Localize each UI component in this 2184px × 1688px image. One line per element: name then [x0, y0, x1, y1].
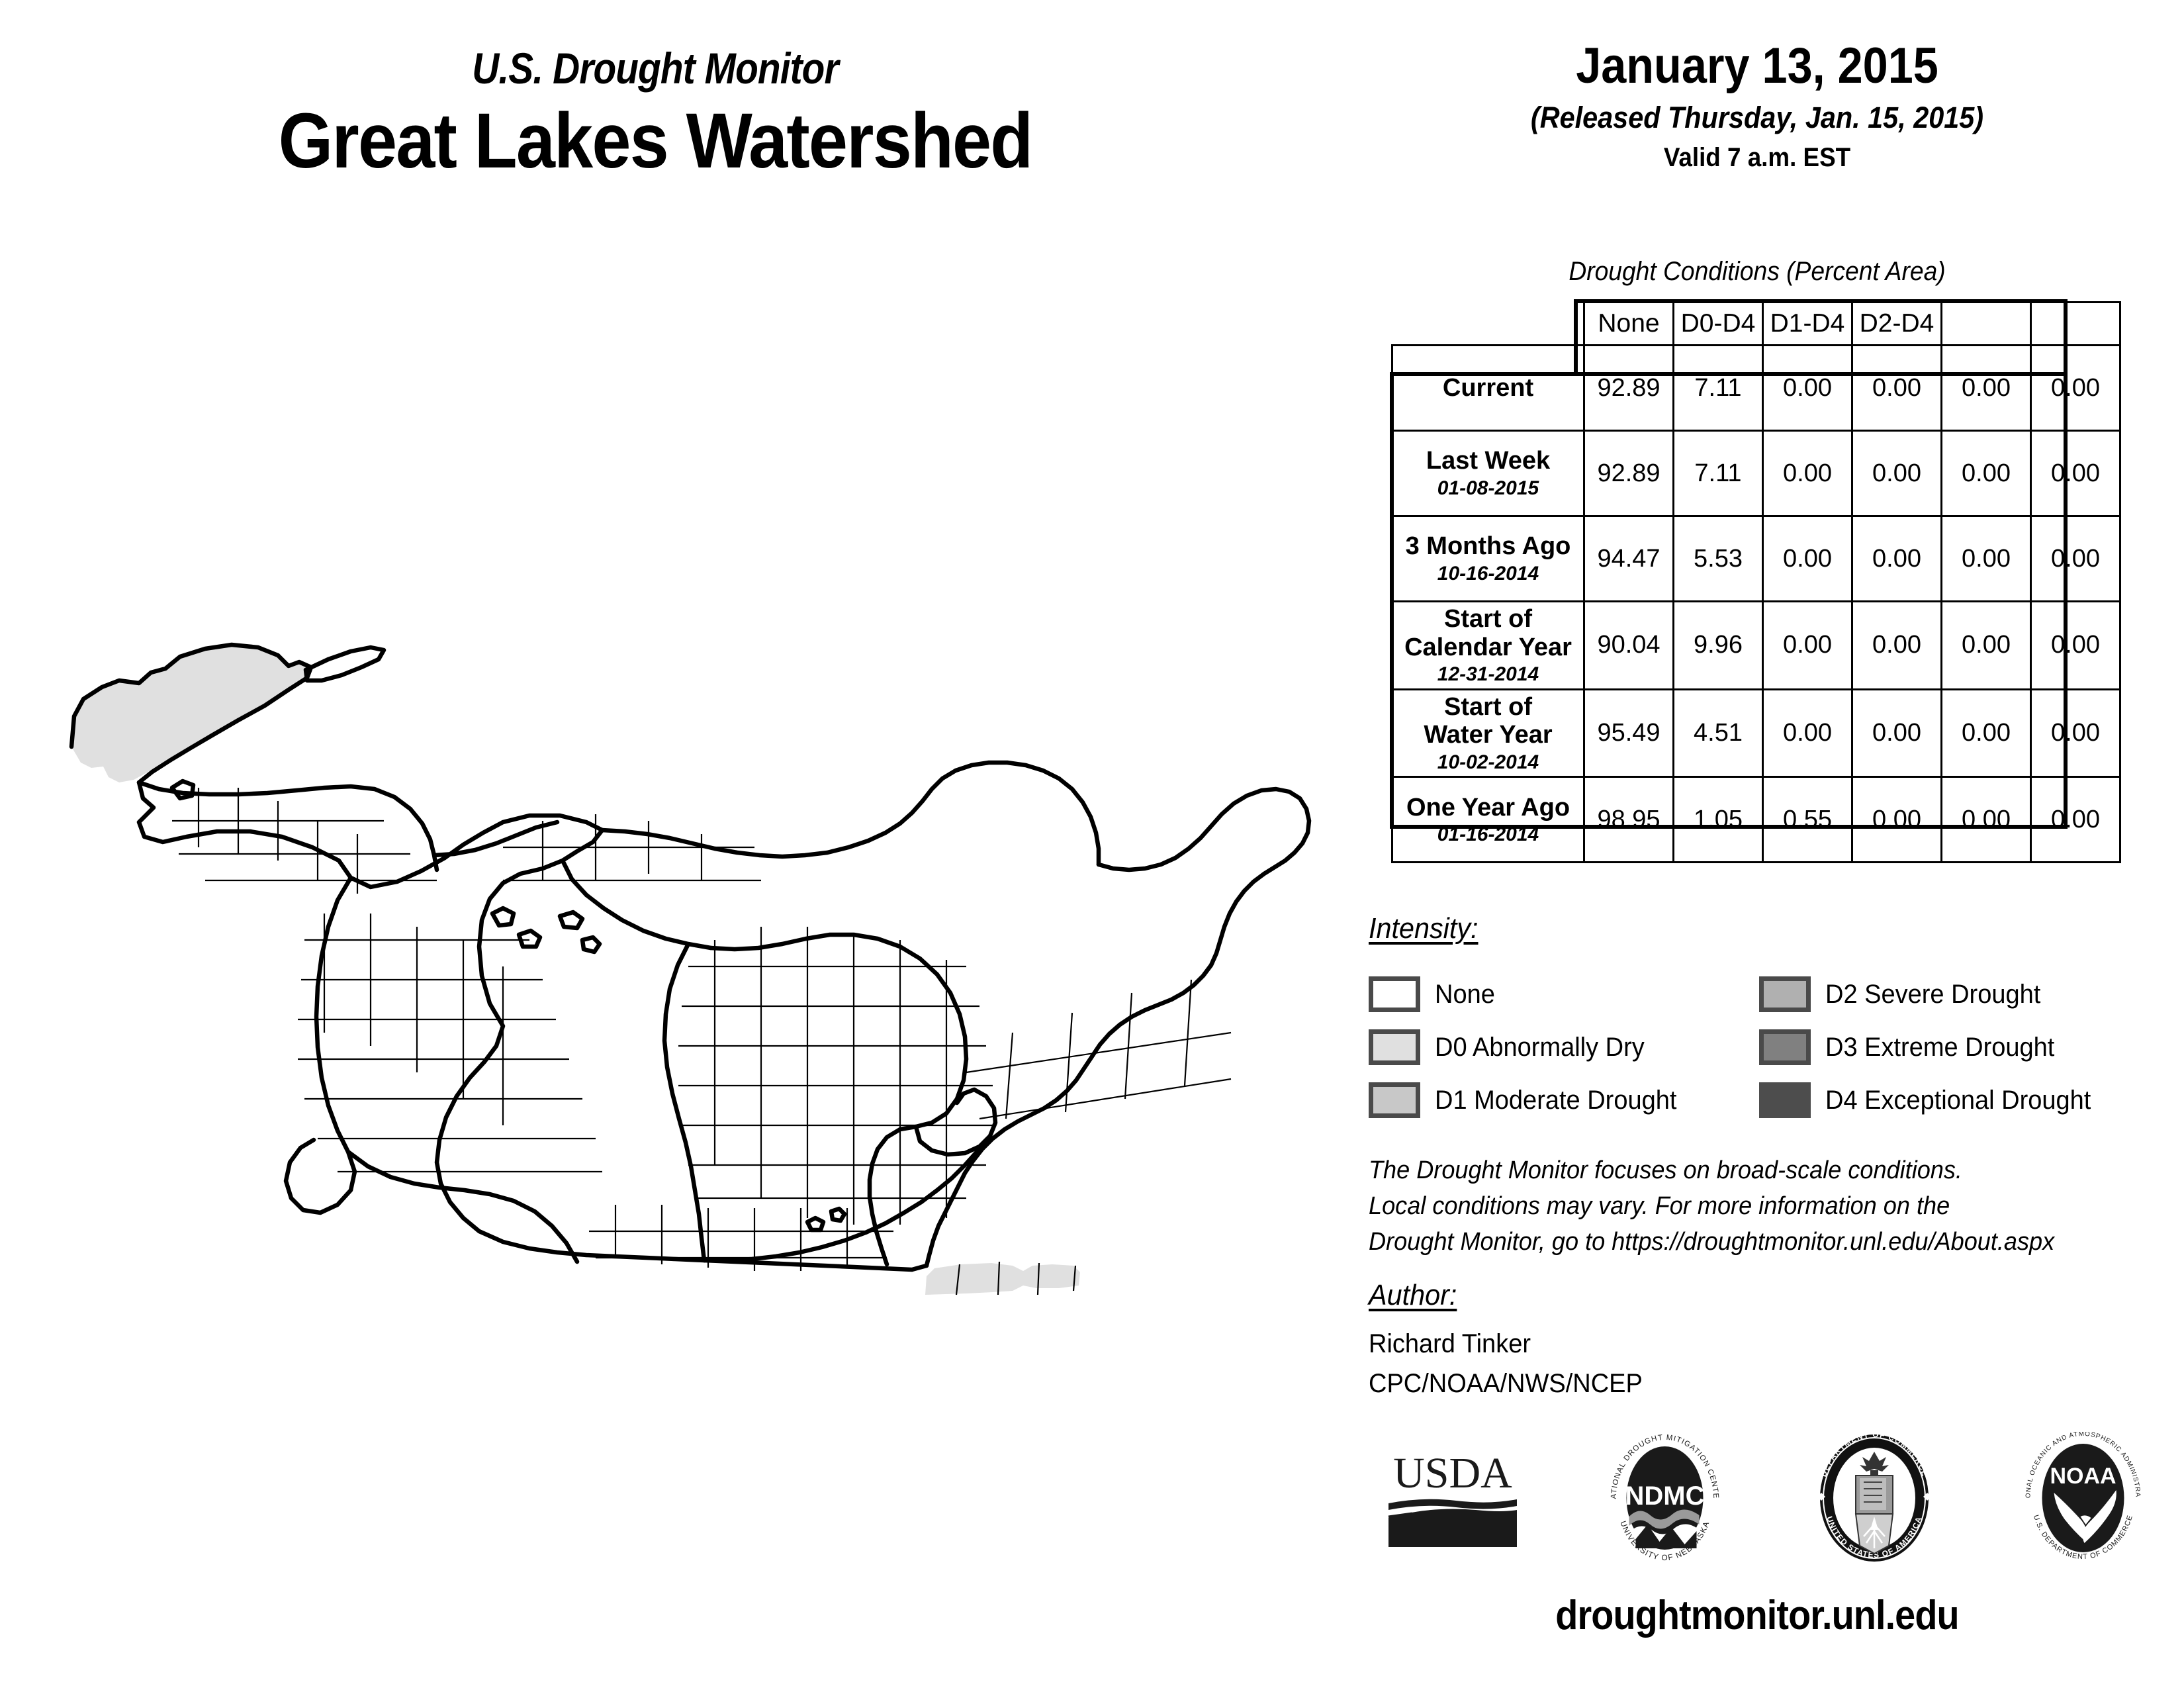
table-row: Last Week01-08-201592.897.110.000.000.00… [1392, 431, 2120, 516]
column-header-d1-d4: D1-D4 [1763, 303, 1852, 346]
row-header: Start ofWater Year10-02-2014 [1392, 689, 1584, 777]
table-cell: 0.00 [1852, 516, 1942, 602]
legend-item-d2: D2 Severe Drought [1759, 976, 2150, 1012]
map-d0-areas [71, 645, 310, 782]
disclaimer-line-1: The Drought Monitor focuses on broad-sca… [1369, 1153, 2123, 1189]
table-cell: 0.00 [1942, 602, 2031, 690]
column-header-d2-d4: D2-D4 [1852, 303, 1942, 346]
table-cell: 0.00 [1942, 431, 2031, 516]
table-cell: 0.00 [2031, 602, 2120, 690]
legend-label-d0: D0 Abnormally Dry [1435, 1033, 1645, 1062]
legend-label-d4: D4 Exceptional Drought [1825, 1086, 2091, 1115]
table-row: Start ofWater Year10-02-201495.494.510.0… [1392, 689, 2120, 777]
table-cell: 0.00 [1852, 777, 1942, 863]
legend-swatch-d4 [1759, 1082, 1811, 1118]
usda-logo: USDA [1383, 1432, 1522, 1564]
row-header: Last Week01-08-2015 [1392, 431, 1584, 516]
intensity-heading: Intensity: [1369, 912, 1479, 945]
table-cell: 7.11 [1674, 346, 1763, 431]
legend-label-d2: D2 Severe Drought [1825, 980, 2040, 1009]
author-block: Richard Tinker CPC/NOAA/NWS/NCEP [1369, 1324, 1643, 1403]
row-header-date: 10-02-2014 [1400, 751, 1576, 774]
page-title-region: Great Lakes Watershed [66, 101, 1245, 183]
table-cell: 0.00 [2031, 516, 2120, 602]
table-header-frame-top [1575, 299, 2066, 303]
svg-text:NOAA: NOAA [2050, 1464, 2116, 1489]
ndmc-logo: NDMC NATIONAL DROUGHT MITIGATION CENTER … [1597, 1432, 1733, 1564]
release-date: (Released Thursday, Jan. 15, 2015) [1395, 101, 2120, 134]
table-header-frame-left [1574, 299, 1578, 373]
disclaimer: The Drought Monitor focuses on broad-sca… [1369, 1153, 2123, 1260]
legend-item-d1: D1 Moderate Drought [1369, 1082, 1759, 1118]
footer-url: droughtmonitor.unl.edu [1403, 1592, 2112, 1639]
column-header-d3-d4: D3-D4 [1942, 303, 2031, 346]
doc-logo: DEPARTMENT OF COMMERCE UNITED STATES OF … [1808, 1432, 1940, 1564]
svg-text:USDA: USDA [1393, 1449, 1512, 1497]
table-cell: 0.00 [1942, 689, 2031, 777]
table-cell: 0.00 [1763, 602, 1852, 690]
table-row: Current92.897.110.000.000.000.00 [1392, 346, 2120, 431]
table-header-row: None D0-D4 D1-D4 D2-D4 D3-D4 D4 [1392, 303, 2120, 346]
d0-region-lake-erie-south [925, 1263, 1080, 1295]
table-cell: 7.11 [1674, 431, 1763, 516]
legend-label-d1: D1 Moderate Drought [1435, 1086, 1676, 1115]
table-cell: 92.89 [1584, 346, 1674, 431]
map-watershed-boundary [71, 645, 1309, 1270]
table-cell: 90.04 [1584, 602, 1674, 690]
table-row: One Year Ago01-16-201498.951.050.550.000… [1392, 777, 2120, 863]
row-header: Current [1392, 346, 1584, 431]
table-cell: 0.00 [1852, 689, 1942, 777]
table-cell: 0.00 [1852, 346, 1942, 431]
legend-swatch-d3 [1759, 1029, 1811, 1065]
table-cell: 0.00 [1942, 346, 2031, 431]
row-header-date: 10-16-2014 [1400, 563, 1576, 585]
date-block: January 13, 2015 (Released Thursday, Jan… [1363, 40, 2151, 173]
table-cell: 94.47 [1584, 516, 1674, 602]
legend-swatch-none [1369, 976, 1420, 1012]
row-header-date: 01-16-2014 [1400, 823, 1576, 846]
legend-label-none: None [1435, 980, 1495, 1009]
legend-item-d3: D3 Extreme Drought [1759, 1029, 2150, 1065]
legend-item-d4: D4 Exceptional Drought [1759, 1082, 2150, 1118]
logo-strip: USDA NDMC NATIONAL DROUGHT MITIGATION CE… [1383, 1427, 2151, 1569]
table-cell: 0.00 [1942, 777, 2031, 863]
legend-row: D1 Moderate Drought D4 Exceptional Droug… [1369, 1074, 2150, 1127]
valid-date: January 13, 2015 [1403, 40, 2112, 93]
table-cell: 0.00 [2031, 431, 2120, 516]
legend-row: D0 Abnormally Dry D3 Extreme Drought [1369, 1021, 2150, 1074]
legend-swatch-d0 [1369, 1029, 1420, 1065]
table-cell: 95.49 [1584, 689, 1674, 777]
table-cell: 0.00 [2031, 777, 2120, 863]
table-cell: 9.96 [1674, 602, 1763, 690]
legend-label-d3: D3 Extreme Drought [1825, 1033, 2054, 1062]
great-lakes-watershed-map [40, 569, 1317, 1297]
page-title-program: U.S. Drought Monitor [92, 46, 1219, 90]
table-cell: 0.00 [1852, 431, 1942, 516]
table-row: Start ofCalendar Year12-31-201490.049.96… [1392, 602, 2120, 690]
table-body: Current92.897.110.000.000.000.00Last Wee… [1392, 346, 2120, 863]
valid-time: Valid 7 a.m. EST [1395, 143, 2120, 173]
table-cell: 0.00 [1942, 516, 2031, 602]
column-header-d4: D4 [2031, 303, 2120, 346]
table-cell: 0.00 [1763, 431, 1852, 516]
svg-text:NDMC: NDMC [1625, 1481, 1705, 1511]
row-header: One Year Ago01-16-2014 [1392, 777, 1584, 863]
table-cell: 0.00 [1763, 516, 1852, 602]
author-heading: Author: [1369, 1279, 1457, 1312]
table-header-frame-right [2064, 299, 2068, 373]
table-cell: 0.00 [2031, 689, 2120, 777]
author-affiliation: CPC/NOAA/NWS/NCEP [1369, 1364, 1643, 1403]
disclaimer-line-2: Local conditions may vary. For more info… [1369, 1189, 2123, 1225]
disclaimer-line-3: Drought Monitor, go to https://droughtmo… [1369, 1225, 2123, 1260]
map-d0-areas-east [925, 1263, 1080, 1295]
legend-row: None D2 Severe Drought [1369, 968, 2150, 1021]
row-header: 3 Months Ago10-16-2014 [1392, 516, 1584, 602]
column-header-d0-d4: D0-D4 [1674, 303, 1763, 346]
table-cell: 5.53 [1674, 516, 1763, 602]
table-cell: 98.95 [1584, 777, 1674, 863]
table-caption: Drought Conditions (Percent Area) [1391, 257, 2124, 287]
table-row: 3 Months Ago10-16-201494.475.530.000.000… [1392, 516, 2120, 602]
legend-swatch-d2 [1759, 976, 1811, 1012]
drought-conditions-table: None D0-D4 D1-D4 D2-D4 D3-D4 D4 Current9… [1391, 301, 2121, 863]
table-cell: 1.05 [1674, 777, 1763, 863]
noaa-logo: NOAA NATIONAL OCEANIC AND ATMOSPHERIC AD… [2015, 1432, 2151, 1564]
table-cell: 0.00 [2031, 346, 2120, 431]
row-header-date: 12-31-2014 [1400, 663, 1576, 686]
row-header-date: 01-08-2015 [1400, 477, 1576, 500]
legend-swatch-d1 [1369, 1082, 1420, 1118]
title-block: U.S. Drought Monitor Great Lakes Watersh… [0, 46, 1310, 183]
row-header: Start ofCalendar Year12-31-2014 [1392, 602, 1584, 690]
table-cell: 92.89 [1584, 431, 1674, 516]
legend-item-d0: D0 Abnormally Dry [1369, 1029, 1759, 1065]
d0-region-northwest [71, 645, 310, 782]
table-corner-cell [1392, 303, 1584, 346]
author-name: Richard Tinker [1369, 1324, 1643, 1364]
table-cell: 0.00 [1763, 346, 1852, 431]
table-cell: 0.00 [1852, 602, 1942, 690]
table-cell: 0.55 [1763, 777, 1852, 863]
legend-item-none: None [1369, 976, 1759, 1012]
table-cell: 0.00 [1763, 689, 1852, 777]
table-cell: 4.51 [1674, 689, 1763, 777]
column-header-none: None [1584, 303, 1674, 346]
intensity-legend: None D2 Severe Drought D0 Abnormally Dry… [1369, 968, 2150, 1127]
